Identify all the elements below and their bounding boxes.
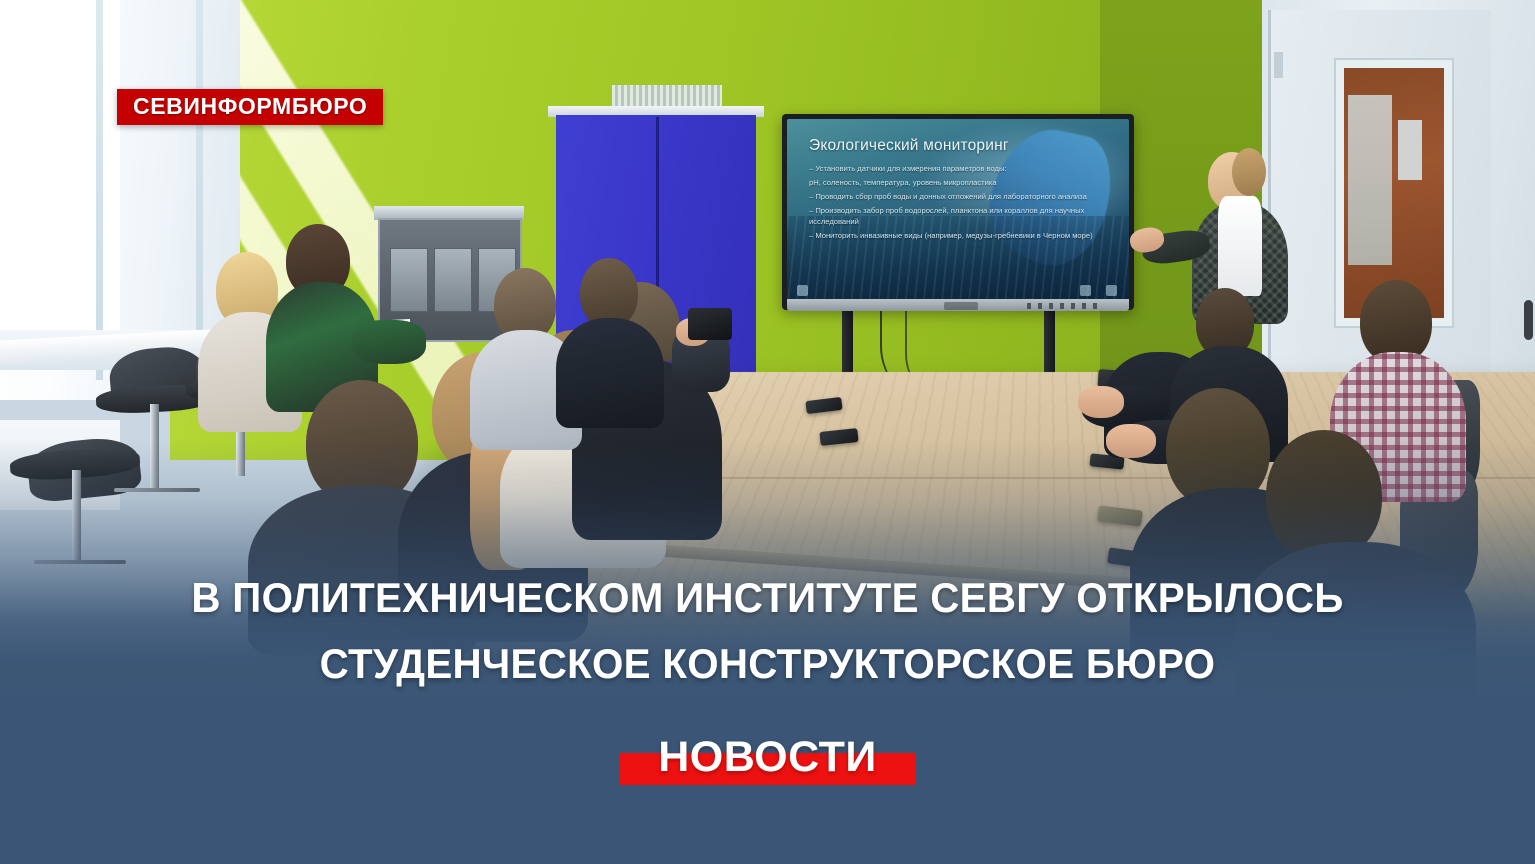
display-indicator-leds	[1027, 303, 1103, 309]
slide-bullet: – Проводить сбор проб воды и донных отло…	[809, 191, 1119, 202]
display-ui-bar	[787, 285, 1129, 299]
slide-bullets: – Установить датчики для измерения парам…	[809, 163, 1119, 244]
display-ui-button[interactable]	[1080, 285, 1091, 296]
display-chin	[787, 299, 1129, 311]
door-window-frame	[1398, 120, 1422, 180]
presenter-hair	[1232, 148, 1266, 196]
display-screen: Экологический мониторинг – Установить да…	[787, 119, 1129, 305]
door-handle	[1524, 300, 1533, 340]
cabinet-hinge-row	[612, 85, 722, 107]
slide-bullet: pH, соленость, температура, уровень микр…	[809, 177, 1119, 188]
door-window-interior	[1348, 95, 1392, 265]
slide-bullet: – Производить забор проб водорослей, пла…	[809, 205, 1119, 227]
slide-title: Экологический мониторинг	[809, 137, 1009, 155]
door-hinge	[1274, 52, 1283, 78]
slide-bullet: – Установить датчики для измерения парам…	[809, 163, 1119, 174]
headline-line-2: СТУДЕНЧЕСКОЕ КОНСТРУКТОРСКОЕ БЮРО	[31, 642, 1505, 686]
presenter-top	[1218, 196, 1262, 296]
window-mullion	[96, 0, 103, 380]
broadcast-frame: Экологический мониторинг – Установить да…	[0, 0, 1535, 864]
display-bezel: Экологический мониторинг – Установить да…	[787, 119, 1129, 305]
channel-logo-text: СЕВИНФОРМБЮРО	[133, 95, 367, 118]
news-category-label: НОВОСТИ	[0, 736, 1535, 779]
headline-line-1: В ПОЛИТЕХНИЧЕСКОМ ИНСТИТУТЕ СЕВГУ ОТКРЫЛ…	[191, 574, 1343, 621]
news-category: НОВОСТИ	[0, 736, 1535, 806]
channel-logo-badge: СЕВИНФОРМБЮРО	[117, 89, 383, 125]
window-mullion	[196, 0, 203, 380]
display-ui-button[interactable]	[797, 285, 808, 296]
interactive-display[interactable]: Экологический мониторинг – Установить да…	[782, 114, 1134, 310]
camera	[688, 308, 732, 340]
display-ui-button[interactable]	[1106, 285, 1117, 296]
display-brand-logo	[944, 302, 978, 310]
slide-bullet: – Мониторить инвазивные виды (например, …	[809, 230, 1119, 241]
headline: В ПОЛИТЕХНИЧЕСКОМ ИНСТИТУТЕ СЕВГУ ОТКРЫЛ…	[31, 576, 1505, 685]
